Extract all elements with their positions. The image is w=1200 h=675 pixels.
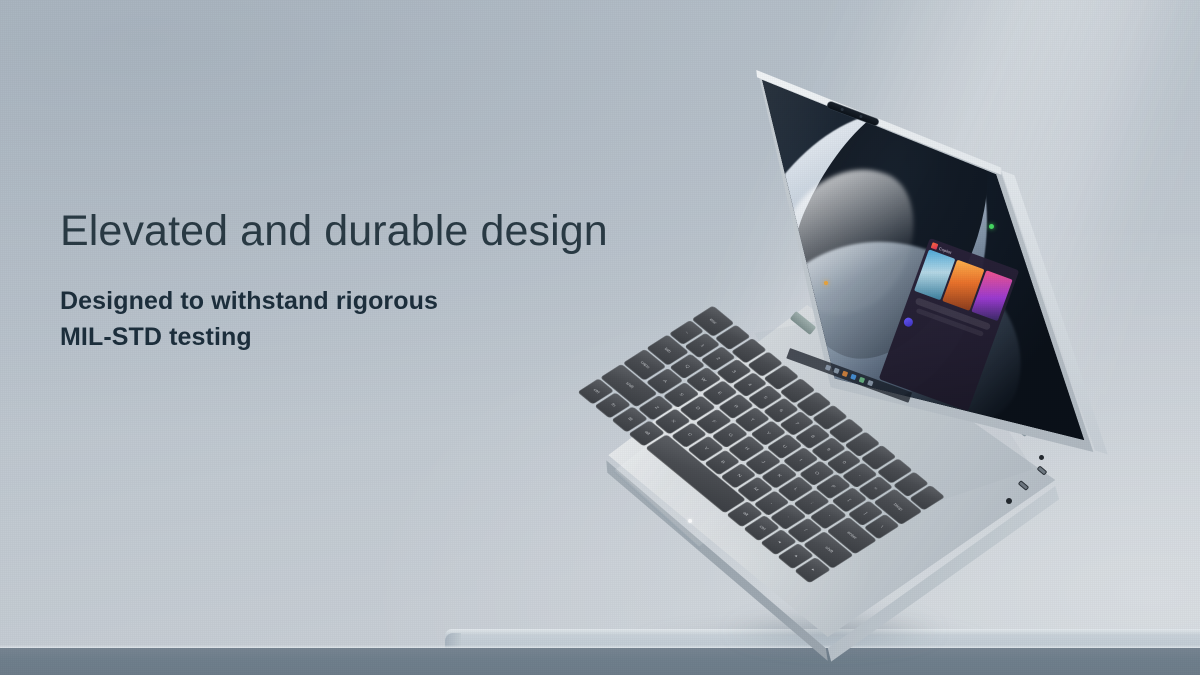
key-legend: = [867, 482, 885, 496]
camera-privacy-led [989, 224, 994, 229]
key-legend: tab [655, 340, 680, 360]
key-legend: ; [803, 496, 821, 510]
key-legend: ◂ [769, 535, 788, 550]
key-legend: X [664, 414, 682, 428]
key-legend: O [808, 466, 826, 480]
page-title: Elevated and durable design [60, 206, 608, 257]
key-legend: alt [637, 426, 656, 441]
slide-canvas: Elevated and durable design Designed to … [0, 0, 1200, 675]
key-legend: 0 [835, 456, 853, 470]
key-legend: T [743, 413, 761, 427]
key-legend: / [796, 523, 814, 537]
key-legend: W [694, 373, 712, 387]
key-legend: U [775, 440, 793, 454]
key-legend: J [754, 455, 772, 469]
key-legend: ] [856, 506, 874, 520]
key-legend: 9 [819, 443, 837, 457]
key-legend: 4 [741, 378, 759, 392]
key-legend: A [655, 374, 673, 388]
mail-icon[interactable] [867, 380, 873, 386]
search-icon[interactable] [833, 368, 839, 374]
key-legend: 7 [788, 417, 806, 431]
headphone-jack [1006, 498, 1012, 504]
key-legend: \ [872, 520, 890, 534]
key-legend: , [763, 496, 781, 510]
key-legend: 2 [709, 352, 727, 366]
key-legend: Y [759, 426, 777, 440]
key-legend: caps [632, 355, 657, 375]
key-legend: N [730, 469, 748, 483]
subheading-line-1: Designed to withstand rigorous [60, 283, 608, 319]
key-legend: B [713, 455, 731, 469]
key-legend: D [688, 401, 706, 415]
key-legend: Q [678, 359, 696, 373]
key-legend: 6 [772, 404, 790, 418]
key-legend: C [680, 428, 698, 442]
floor-band [0, 648, 1200, 675]
key-legend: 3 [725, 365, 743, 379]
charging-led [824, 281, 828, 285]
key-legend: Z [647, 401, 665, 415]
key-legend: esc [701, 311, 726, 331]
key-legend: G [721, 428, 739, 442]
explorer-icon[interactable] [842, 371, 848, 377]
key-legend: I [791, 453, 809, 467]
subheading: Designed to withstand rigorous MIL-STD t… [60, 283, 608, 356]
key-legend: E [710, 386, 728, 400]
store-icon[interactable] [859, 377, 865, 383]
key-legend: ctrl [586, 384, 605, 399]
key-legend: M [746, 482, 764, 496]
key-legend: ~ [678, 326, 696, 340]
key-legend: R [727, 399, 745, 413]
key-legend: 5 [756, 391, 774, 405]
key-legend: 8 [804, 430, 822, 444]
key-legend: fn [603, 398, 622, 413]
key-legend: K [770, 469, 788, 483]
power-indicator-led [688, 519, 692, 523]
key-legend: P [824, 480, 842, 494]
avatar [903, 316, 915, 328]
key-legend: ▸ [803, 563, 822, 578]
key-legend: H [737, 442, 755, 456]
key-legend: ⊞ [620, 412, 639, 427]
ir-sensor [859, 115, 863, 119]
key-legend: 1 [693, 339, 711, 353]
camera-lens [840, 108, 844, 112]
subheading-line-2: MIL-STD testing [60, 319, 608, 355]
text-block: Elevated and durable design Designed to … [60, 206, 608, 355]
power-jack [1039, 455, 1044, 460]
key-legend: L [786, 482, 804, 496]
key-legend: [ [840, 493, 858, 507]
key-legend: V [697, 441, 715, 455]
start-icon[interactable] [825, 364, 831, 370]
key-legend: - [851, 469, 869, 483]
copilot-icon [931, 242, 939, 250]
key-legend: ▴ [786, 549, 805, 564]
key-legend: alt [736, 507, 755, 522]
key-legend: . [779, 509, 797, 523]
key-legend: ' [819, 509, 837, 523]
key-legend: ctrl [752, 521, 771, 536]
edge-icon[interactable] [850, 374, 856, 380]
key-legend: F [705, 415, 723, 429]
key-legend: S [672, 388, 690, 402]
